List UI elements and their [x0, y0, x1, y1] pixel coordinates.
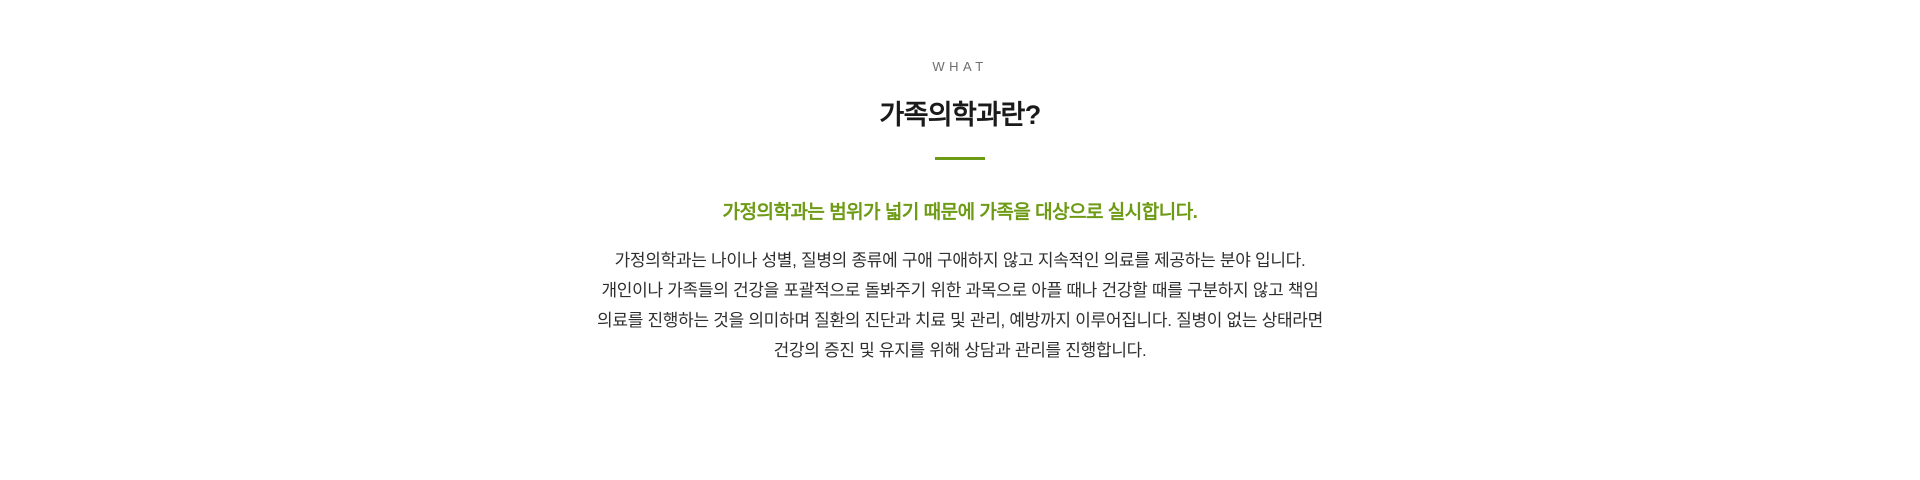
body-line: 개인이나 가족들의 건강을 포괄적으로 돌봐주기 위한 과목으로 아플 때나 건…	[597, 276, 1323, 306]
what-is-family-medicine-section: WHAT 가족의학과란? 가정의학과는 범위가 넓기 때문에 가족을 대상으로 …	[0, 0, 1920, 480]
accent-divider	[935, 157, 985, 160]
page-title: 가족의학과란?	[879, 99, 1040, 131]
body-line: 건강의 증진 및 유지를 위해 상담과 관리를 진행합니다.	[597, 336, 1323, 366]
section-body-copy: 가정의학과는 나이나 성별, 질병의 종류에 구애 구애하지 않고 지속적인 의…	[597, 246, 1323, 366]
body-line: 의료를 진행하는 것을 의미하며 질환의 진단과 치료 및 관리, 예방까지 이…	[597, 306, 1323, 336]
section-eyebrow-label: WHAT	[932, 60, 987, 73]
section-lead-text: 가정의학과는 범위가 넓기 때문에 가족을 대상으로 실시합니다.	[723, 200, 1198, 227]
body-line: 가정의학과는 나이나 성별, 질병의 종류에 구애 구애하지 않고 지속적인 의…	[597, 246, 1323, 276]
